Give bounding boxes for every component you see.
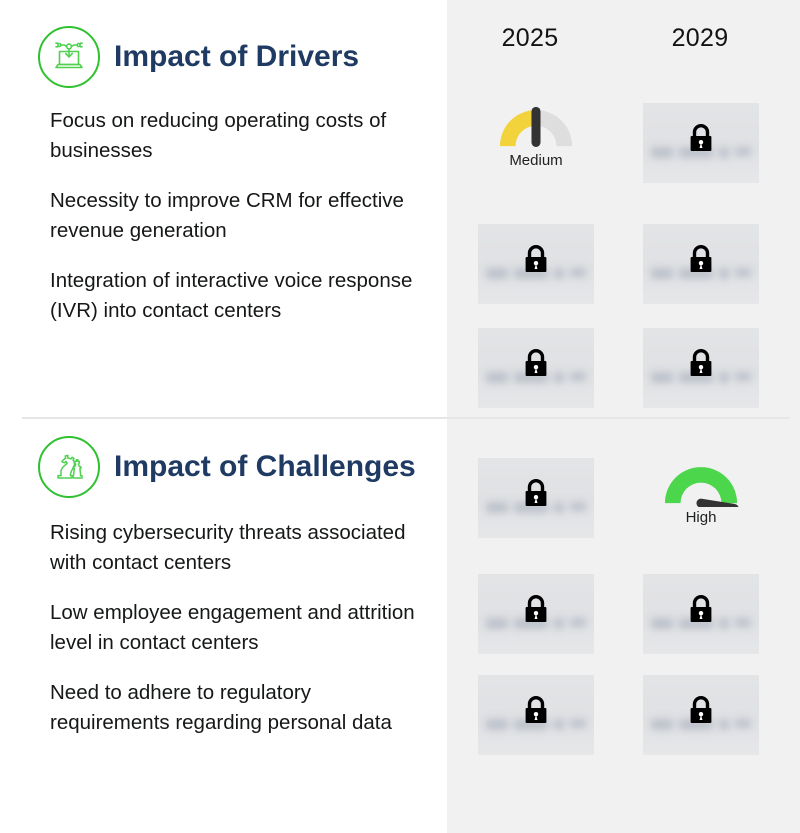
impact-matrix-slide: 2025 2029 Impact of Drivers Foc xyxy=(0,0,800,833)
section-title-drivers: Impact of Drivers xyxy=(114,40,359,74)
section-header-challenges: Impact of Challenges xyxy=(38,436,416,498)
lock-icon xyxy=(521,477,551,516)
locked-tile[interactable] xyxy=(643,574,759,654)
gauge-dial-medium xyxy=(495,103,577,150)
locked-cell-challenges-2029-row2[interactable] xyxy=(643,574,759,654)
lock-icon xyxy=(686,243,716,282)
locked-cell-drivers-2029-row2[interactable] xyxy=(643,224,759,304)
lock-icon xyxy=(521,694,551,733)
locked-tile[interactable] xyxy=(478,328,594,408)
lock-icon xyxy=(686,122,716,161)
list-item: Integration of interactive voice respons… xyxy=(50,266,430,326)
locked-cell-drivers-2025-row3[interactable] xyxy=(478,328,594,408)
locked-cell-challenges-2025-row2[interactable] xyxy=(478,574,594,654)
locked-tile[interactable] xyxy=(643,675,759,755)
locked-cell-challenges-2025-row3[interactable] xyxy=(478,675,594,755)
locked-tile[interactable] xyxy=(643,103,759,183)
locked-cell-drivers-2029-row3[interactable] xyxy=(643,328,759,408)
challenges-bullet-list: Rising cybersecurity threats associated … xyxy=(50,518,430,738)
locked-cell-drivers-2025-row2[interactable] xyxy=(478,224,594,304)
column-header-2029: 2029 xyxy=(620,24,780,53)
locked-tile[interactable] xyxy=(643,224,759,304)
locked-tile[interactable] xyxy=(643,328,759,408)
list-item: Focus on reducing operating costs of bus… xyxy=(50,106,430,166)
lock-icon xyxy=(521,347,551,386)
section-divider xyxy=(22,417,790,419)
gauge-rating-label: Medium xyxy=(509,152,562,169)
locked-cell-challenges-2029-row3[interactable] xyxy=(643,675,759,755)
gauge-medium: Medium xyxy=(478,103,594,183)
lock-icon xyxy=(686,593,716,632)
lock-icon xyxy=(686,347,716,386)
gauge-cell-challenges-2029-row1: High xyxy=(643,460,759,540)
lock-icon xyxy=(521,593,551,632)
drivers-bullet-list: Focus on reducing operating costs of bus… xyxy=(50,106,430,326)
locked-cell-challenges-2025-row1[interactable] xyxy=(478,458,594,538)
locked-cell-drivers-2029-row1[interactable] xyxy=(643,103,759,183)
chess-pieces-icon xyxy=(38,436,100,498)
list-item: Necessity to improve CRM for effective r… xyxy=(50,186,430,246)
gauge-rating-label: High xyxy=(686,509,717,526)
list-item: Rising cybersecurity threats associated … xyxy=(50,518,430,578)
column-header-2025: 2025 xyxy=(450,24,610,53)
lock-icon xyxy=(686,694,716,733)
gauge-dial-high xyxy=(660,460,742,507)
gauge-cell-drivers-2025-row1: Medium xyxy=(478,103,594,183)
section-title-challenges: Impact of Challenges xyxy=(114,450,416,484)
locked-tile[interactable] xyxy=(478,675,594,755)
locked-tile[interactable] xyxy=(478,224,594,304)
locked-tile[interactable] xyxy=(478,574,594,654)
list-item: Need to adhere to regulatory requirement… xyxy=(50,678,430,738)
locked-tile[interactable] xyxy=(478,458,594,538)
list-item: Low employee engagement and attrition le… xyxy=(50,598,430,658)
laptop-download-network-icon xyxy=(38,26,100,88)
lock-icon xyxy=(521,243,551,282)
gauge-high: High xyxy=(643,460,759,540)
section-header-drivers: Impact of Drivers xyxy=(38,26,359,88)
